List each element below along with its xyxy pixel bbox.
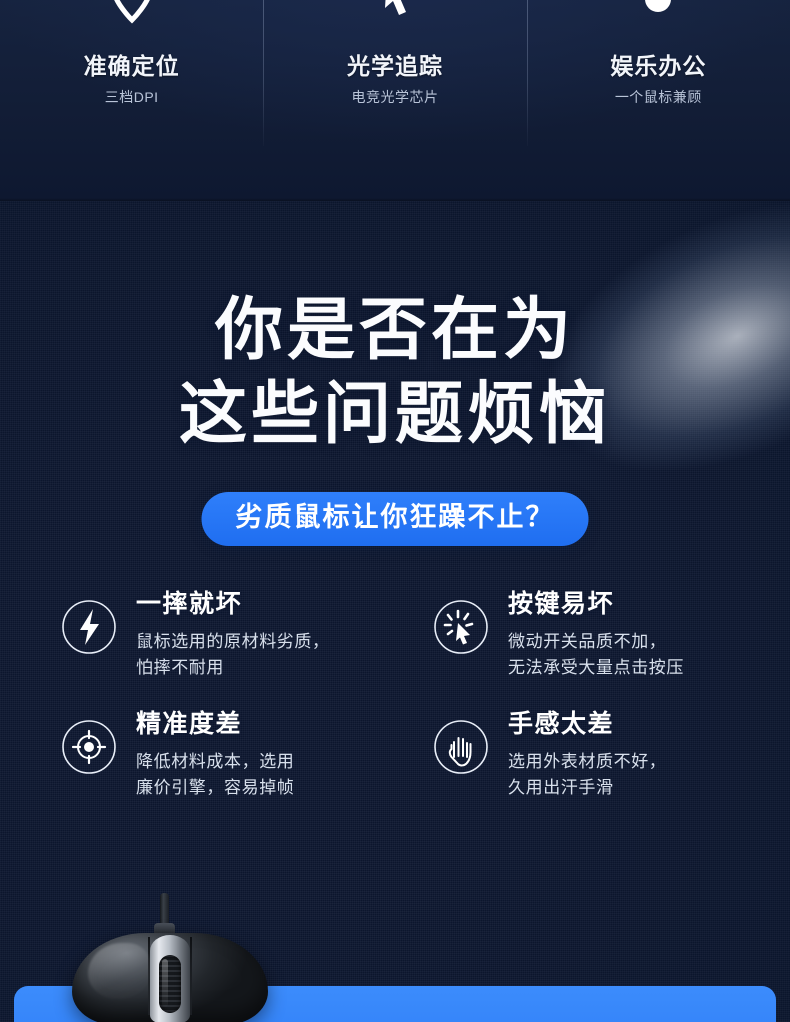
cursor-tracking-icon	[363, 0, 427, 30]
problem-item: 精准度差 降低材料成本，选用 廉价引擎，容易掉帧	[60, 709, 432, 801]
product-detail-page: 准确定位 三档DPI 光学追踪 电竞光学芯片	[0, 0, 790, 1022]
problem-desc-line-1: 选用外表材质不好，	[508, 749, 666, 775]
mouse-right-button-split	[190, 937, 192, 1015]
feature-column-optical-tracking: 光学追踪 电竞光学芯片	[263, 0, 526, 150]
problem-text: 按键易坏 微动开关品质不加， 无法承受大量点击按压	[508, 589, 684, 681]
feature-title: 准确定位	[84, 55, 180, 78]
feature-subtitle: 一个鼠标兼顾	[615, 90, 702, 104]
feature-subtitle: 三档DPI	[105, 90, 159, 104]
click-burst-icon	[432, 598, 490, 656]
feature-column-positioning: 准确定位 三档DPI	[0, 0, 263, 150]
mouse-product-image	[72, 893, 268, 1022]
problem-item: 手感太差 选用外表材质不好， 久用出汗手滑	[432, 709, 760, 801]
feature-columns: 准确定位 三档DPI 光学追踪 电竞光学芯片	[0, 0, 790, 150]
section-headline: 你是否在为 这些问题烦恼	[0, 296, 790, 448]
feature-strip: 准确定位 三档DPI 光学追踪 电竞光学芯片	[0, 0, 790, 201]
feature-title: 光学追踪	[347, 55, 443, 78]
mouse-body-highlight	[88, 943, 150, 999]
location-pin-icon	[100, 0, 164, 30]
problem-desc-line-2: 廉价引擎，容易掉帧	[136, 775, 294, 801]
problem-grid: 一摔就坏 鼠标选用的原材料劣质， 怕摔不耐用	[60, 589, 760, 801]
problem-desc-line-1: 微动开关品质不加，	[508, 629, 684, 655]
subheading-pill: 劣质鼠标让你狂躁不止？	[202, 492, 589, 546]
problem-description: 微动开关品质不加， 无法承受大量点击按压	[508, 629, 684, 682]
problem-item: 一摔就坏 鼠标选用的原材料劣质， 怕摔不耐用	[60, 589, 432, 681]
problem-text: 手感太差 选用外表材质不好， 久用出汗手滑	[508, 709, 666, 801]
problem-desc-line-2: 久用出汗手滑	[508, 775, 666, 801]
feature-column-work-play: 娱乐办公 一个鼠标兼顾	[527, 0, 790, 150]
hand-palm-icon	[432, 718, 490, 776]
problem-title: 手感太差	[508, 711, 666, 739]
feature-title: 娱乐办公	[610, 55, 706, 78]
problem-title: 精准度差	[136, 711, 294, 739]
crosshair-icon	[60, 718, 118, 776]
problem-desc-line-1: 鼠标选用的原材料劣质，	[136, 629, 330, 655]
problem-description: 选用外表材质不好， 久用出汗手滑	[508, 749, 666, 802]
mouse-scroll-wheel-highlight	[162, 959, 168, 1007]
problem-desc-line-1: 降低材料成本，选用	[136, 749, 294, 775]
problem-title: 按键易坏	[508, 591, 684, 619]
problem-desc-line-2: 无法承受大量点击按压	[508, 655, 684, 681]
problem-desc-line-2: 怕摔不耐用	[136, 655, 330, 681]
headline-line-1: 你是否在为	[0, 296, 790, 364]
problem-description: 鼠标选用的原材料劣质， 怕摔不耐用	[136, 629, 330, 682]
mouse-icon	[626, 0, 690, 30]
problem-text: 精准度差 降低材料成本，选用 廉价引擎，容易掉帧	[136, 709, 294, 801]
problem-title: 一摔就坏	[136, 591, 330, 619]
problem-item: 按键易坏 微动开关品质不加， 无法承受大量点击按压	[432, 589, 760, 681]
problem-text: 一摔就坏 鼠标选用的原材料劣质， 怕摔不耐用	[136, 589, 330, 681]
feature-subtitle: 电竞光学芯片	[351, 90, 438, 104]
lightning-bolt-icon	[60, 598, 118, 656]
problem-description: 降低材料成本，选用 廉价引擎，容易掉帧	[136, 749, 294, 802]
headline-line-2: 这些问题烦恼	[0, 380, 790, 448]
